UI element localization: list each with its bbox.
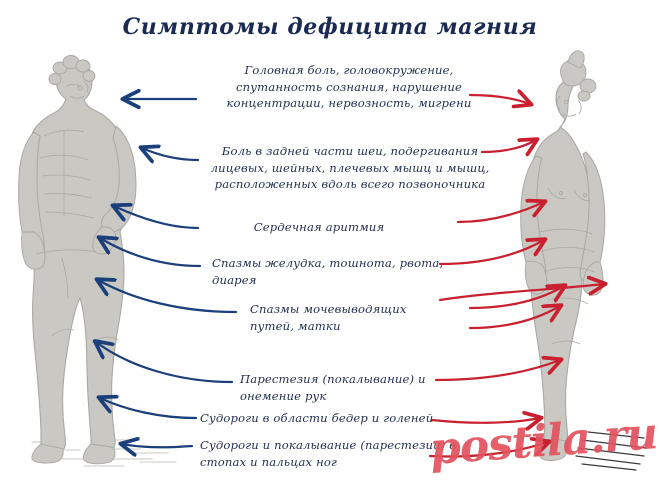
female-ground-shadow xyxy=(576,432,646,470)
symptom-text-5: Спазмы мочевыводящих путей, матки xyxy=(250,301,470,334)
page-title: Симптомы дефицита магния xyxy=(0,14,660,40)
symptom-text-4: Спазмы желудка, тошнота, рвота, диарея xyxy=(212,255,482,288)
arrow-left-2 xyxy=(142,148,198,160)
arrow-left-7 xyxy=(100,398,196,418)
symptom-text-3: Сердечная аритмия xyxy=(204,219,434,236)
symptom-text-8: Судороги и покалывание (парестезии) в ст… xyxy=(200,437,490,470)
symptom-text-7: Судороги в области бедер и голеней xyxy=(200,410,490,427)
symptom-text-6: Парестезия (покалывание) и онемение рук xyxy=(240,371,480,404)
female-figure xyxy=(521,51,646,470)
male-feet xyxy=(32,444,115,464)
arrow-left-6 xyxy=(96,342,232,382)
infographic-canvas: Симптомы дефицита магния Головная боль, … xyxy=(0,0,660,489)
symptom-text-2: Боль в задней части шеи, подергивания ли… xyxy=(200,143,500,193)
symptom-text-1: Головная боль, головокружение, спутаннос… xyxy=(204,62,494,112)
arrow-left-8 xyxy=(122,444,192,447)
